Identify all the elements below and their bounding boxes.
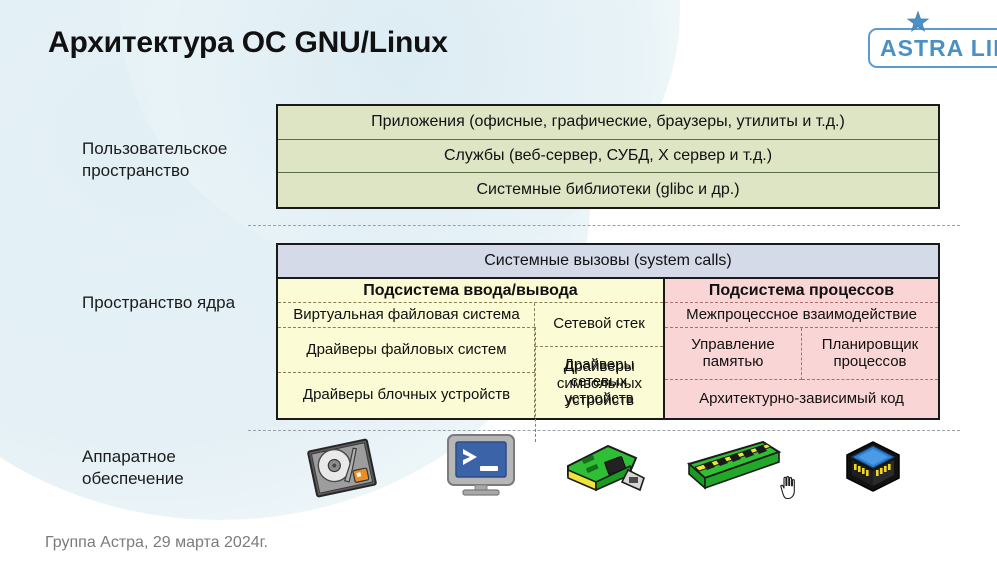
cell-char-drivers: Драйверы символьных устройств: [535, 327, 663, 442]
io-subsystem-heading: Подсистема ввода/вывода: [278, 279, 663, 303]
section-label-user-space: Пользовательское пространство: [82, 138, 272, 182]
io-subsystem-inner: Виртуальная файловая система Драйверы фа…: [278, 303, 663, 418]
kernel-body: Подсистема ввода/вывода Виртуальная файл…: [278, 279, 938, 418]
cell-memory-management: Управление памятью: [665, 328, 802, 380]
process-subsystem-middle: Управление памятью Планировщик процессов: [665, 328, 938, 380]
mouse-cursor-pointing-hand: [776, 475, 798, 501]
io-left-column: Виртуальная файловая система Драйверы фа…: [278, 303, 535, 418]
page-title: Архитектура ОС GNU/Linux: [48, 26, 448, 60]
kernel-space-stack: Системные вызовы (system calls) Подсисте…: [276, 243, 940, 420]
user-space-row-system-libs: Системные библиотеки (glibc и др.): [278, 173, 938, 207]
user-space-stack: Приложения (офисные, графические, браузе…: [276, 104, 940, 209]
cell-process-scheduler: Планировщик процессов: [802, 328, 938, 380]
monitor-terminal-icon: [444, 433, 518, 497]
astra-linux-logo: ASTRA LIN: [868, 28, 997, 68]
process-subsystem: Подсистема процессов Межпроцессное взаим…: [665, 279, 938, 418]
cell-fs-drivers: Драйверы файловых систем: [278, 328, 535, 373]
cell-arch-dependent-code: Архитектурно-зависимый код: [665, 380, 938, 418]
star-icon: [905, 10, 931, 36]
system-calls-row: Системные вызовы (system calls): [278, 245, 938, 279]
process-subsystem-heading: Подсистема процессов: [665, 279, 938, 303]
section-label-kernel-space: Пространство ядра: [82, 292, 272, 314]
user-space-row-services: Службы (веб-сервер, СУБД, X сервер и т.д…: [278, 140, 938, 174]
cell-ipc: Межпроцессное взаимодействие: [665, 303, 938, 328]
cpu-chip-icon: [842, 438, 904, 496]
io-subsystem: Подсистема ввода/вывода Виртуальная файл…: [278, 279, 665, 418]
cell-block-drivers: Драйверы блочных устройств: [278, 373, 535, 418]
ram-module-icon: [683, 440, 783, 496]
hard-disk-icon: [302, 437, 382, 499]
user-space-row-applications: Приложения (офисные, графические, браузе…: [278, 106, 938, 140]
cell-virtual-filesystem: Виртуальная файловая система: [278, 303, 535, 328]
logo-label: ASTRA LIN: [880, 35, 997, 62]
footer-text: Группа Астра, 29 марта 2024г.: [45, 534, 268, 552]
network-card-icon: [560, 440, 650, 498]
separator-user-kernel: [248, 225, 960, 226]
section-label-hardware: Аппаратное обеспечение: [82, 446, 272, 490]
